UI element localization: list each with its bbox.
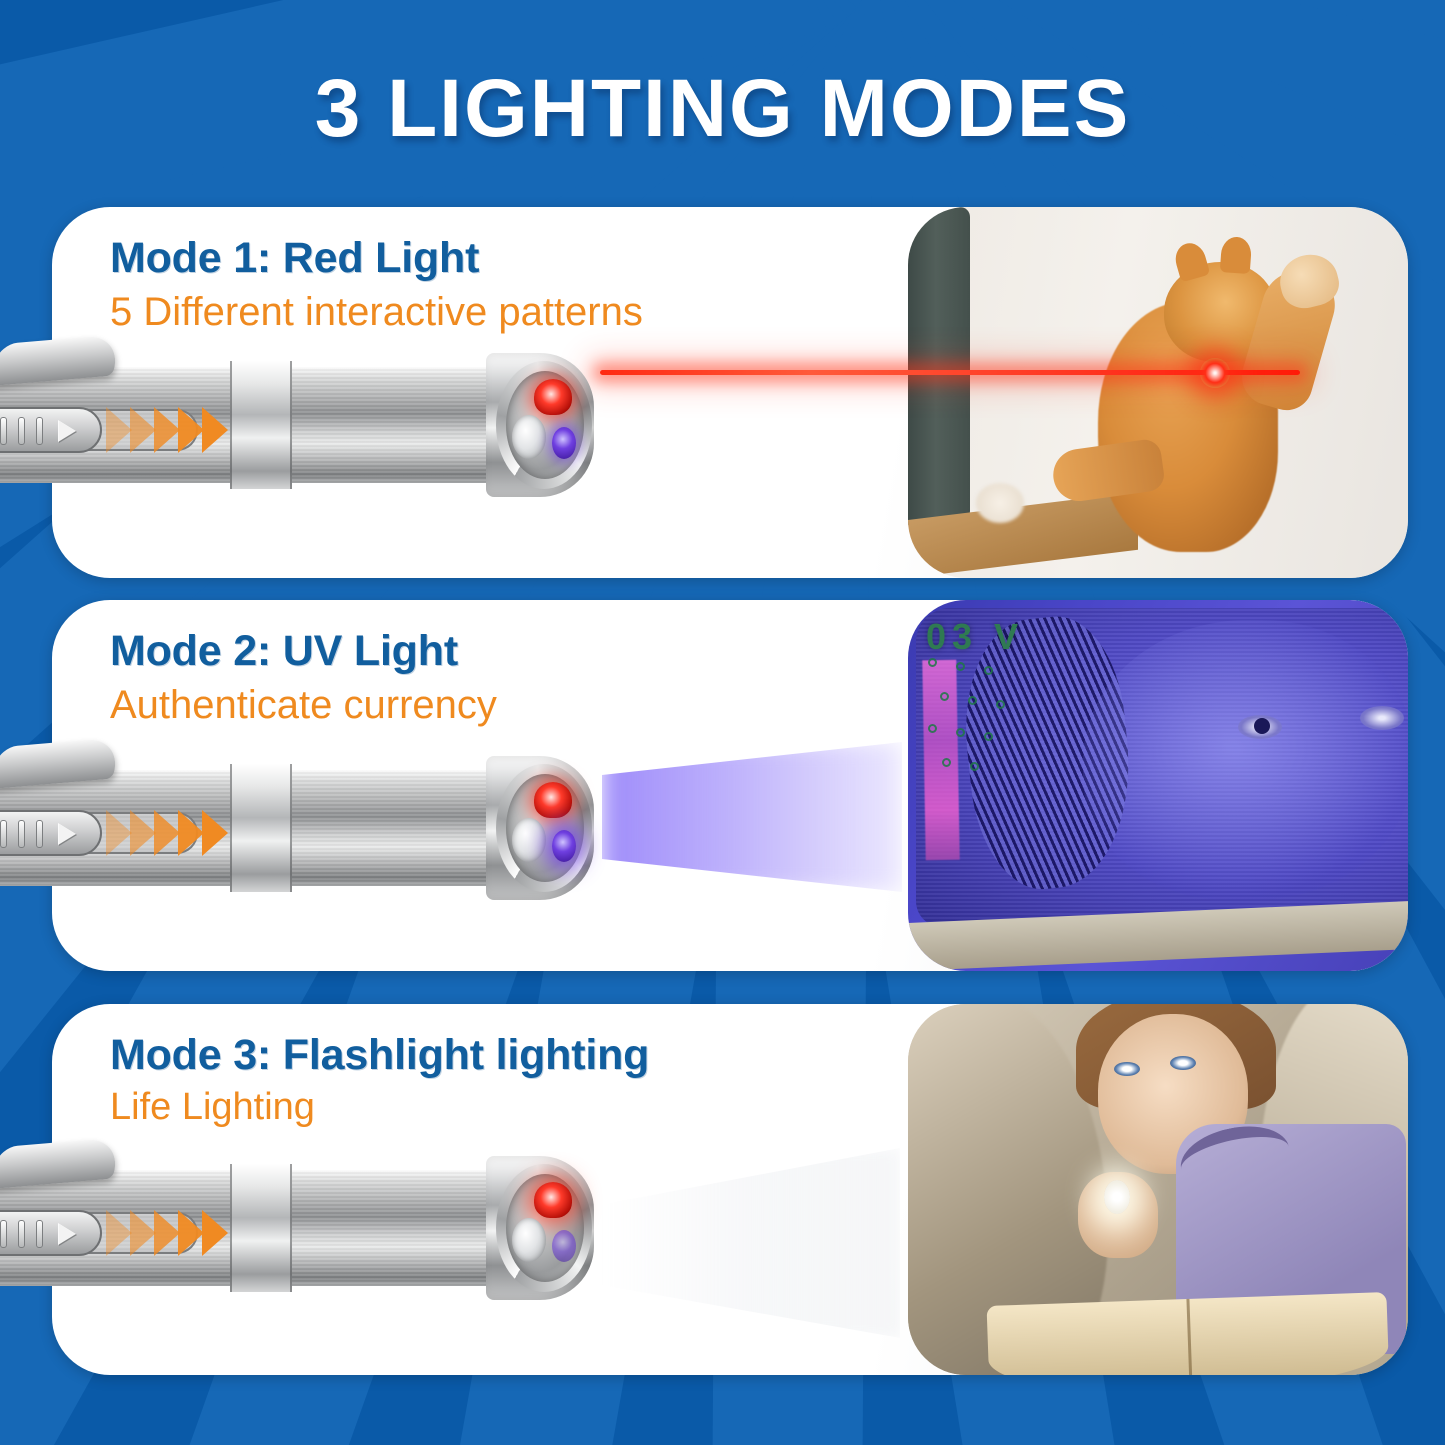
- white-lens-icon: [512, 1218, 546, 1262]
- cat-chasing-laser-photo: [908, 207, 1408, 578]
- red-laser-led-icon: [534, 1182, 572, 1218]
- mode-1-heading: Mode 1: Red Light: [110, 233, 643, 284]
- mode-3-heading: Mode 3: Flashlight lighting: [110, 1030, 649, 1081]
- microprint-dot: [968, 696, 977, 705]
- mode-3-text-block: Mode 3: Flashlight lighting Life Lightin…: [110, 1030, 649, 1130]
- handheld-flashlight-glow-icon: [1104, 1180, 1130, 1214]
- slide-chevron-icon: [202, 407, 228, 453]
- flashlight-head: [486, 353, 594, 497]
- red-laser-beam-icon: [600, 370, 1300, 375]
- flashlight-band: [230, 361, 292, 489]
- slide-chevron-icon: [130, 1210, 156, 1256]
- flashlight-head: [486, 756, 594, 900]
- mode-2-heading: Mode 2: UV Light: [110, 626, 497, 677]
- uv-led-icon: [552, 830, 576, 862]
- slide-chevron-icon: [178, 1210, 204, 1256]
- slide-chevron-icon: [154, 810, 180, 856]
- banknote-serial-text: 03 V: [926, 616, 1024, 658]
- flashlight-device-mode-2: [0, 748, 618, 908]
- uv-scene: 03 V: [908, 600, 1408, 971]
- bedroom-scene: [908, 1004, 1408, 1375]
- flashlight-head: [486, 1156, 594, 1300]
- slide-chevron-icon: [178, 810, 204, 856]
- microprint-dot: [970, 762, 979, 771]
- slide-chevron-icon: [130, 810, 156, 856]
- page-title: 3 LIGHTING MODES: [0, 62, 1445, 156]
- girl-reading-with-flashlight-photo: [908, 1004, 1408, 1375]
- mode-switch-button[interactable]: [0, 407, 102, 453]
- play-triangle-icon: [58, 1223, 76, 1245]
- flashlight-band: [230, 764, 292, 892]
- open-book-shape: [987, 1292, 1390, 1375]
- mode-switch-button[interactable]: [0, 810, 102, 856]
- mode-1-text-block: Mode 1: Red Light 5 Different interactiv…: [110, 233, 643, 336]
- microprint-dot: [928, 724, 937, 733]
- flashlight-device-mode-1: [0, 345, 618, 505]
- franklin-face-shape: [1083, 620, 1408, 900]
- slide-chevron-icon: [202, 810, 228, 856]
- slide-chevron-icon: [154, 407, 180, 453]
- girl-eye-left-shape: [1114, 1062, 1140, 1076]
- slide-chevron-icon: [106, 810, 132, 856]
- white-lens-icon: [512, 818, 546, 862]
- uv-led-icon: [552, 1230, 576, 1262]
- franklin-eye-right-shape: [1360, 706, 1404, 730]
- microprint-dot: [928, 658, 937, 667]
- red-laser-led-icon: [534, 379, 572, 415]
- play-triangle-icon: [58, 823, 76, 845]
- mode-switch-button[interactable]: [0, 1210, 102, 1256]
- microprint-dot: [956, 728, 965, 737]
- laser-dot-icon: [1200, 358, 1230, 388]
- white-lens-icon: [512, 415, 546, 459]
- uv-currency-photo: 03 V: [908, 600, 1408, 971]
- slide-chevron-icon: [130, 407, 156, 453]
- uv-led-icon: [552, 427, 576, 459]
- microprint-dot: [942, 758, 951, 767]
- curtain-shape: [908, 207, 970, 525]
- microprint-dot: [956, 662, 965, 671]
- cat-tail-shape: [976, 483, 1024, 523]
- microprint-dot: [984, 732, 993, 741]
- flashlight-band: [230, 1164, 292, 1292]
- play-triangle-icon: [58, 420, 76, 442]
- microprint-dots: [928, 658, 1038, 778]
- cat-scene: [908, 207, 1408, 578]
- franklin-pupil-shape: [1254, 718, 1270, 734]
- slide-chevron-icon: [106, 407, 132, 453]
- slide-chevron-icon: [154, 1210, 180, 1256]
- microprint-dot: [940, 692, 949, 701]
- red-laser-led-icon: [534, 782, 572, 818]
- microprint-dot: [984, 666, 993, 675]
- microprint-dot: [996, 700, 1005, 709]
- mode-2-subheading: Authenticate currency: [110, 681, 497, 729]
- mode-2-text-block: Mode 2: UV Light Authenticate currency: [110, 626, 497, 729]
- flashlight-device-mode-3: [0, 1148, 618, 1308]
- mode-1-subheading: 5 Different interactive patterns: [110, 288, 643, 336]
- cat-ear-right-shape: [1220, 236, 1252, 274]
- slide-chevron-icon: [106, 1210, 132, 1256]
- mode-3-subheading: Life Lighting: [110, 1085, 649, 1131]
- girl-eye-right-shape: [1170, 1056, 1196, 1070]
- slide-chevron-icon: [178, 407, 204, 453]
- slide-chevron-icon: [202, 1210, 228, 1256]
